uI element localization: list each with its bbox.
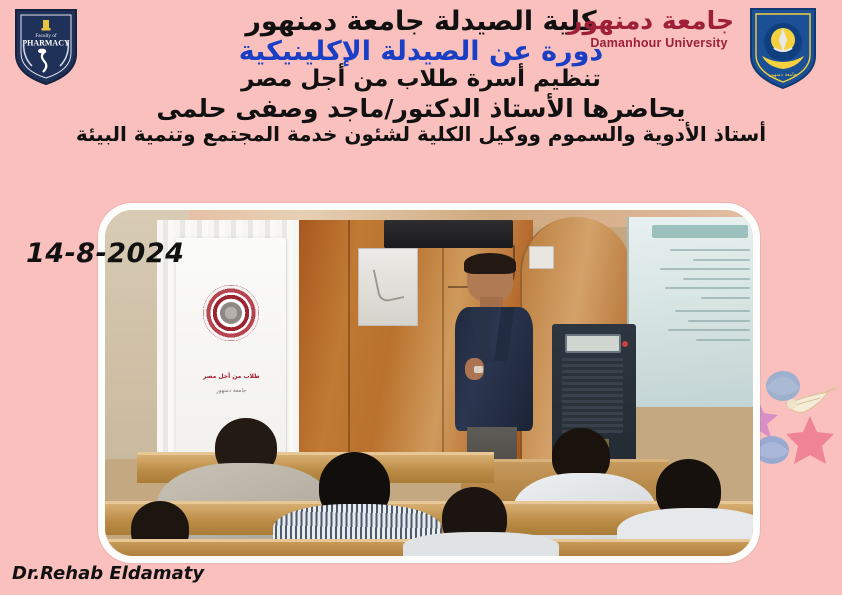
title-line-lecturer-role: أستاذ الأدوية والسموم ووكيل الكلية لشئون… [0,121,842,144]
seashell-decoration [748,358,840,478]
slide-text-line [701,297,750,299]
slide-text-line [693,259,750,261]
damanhour-university-crest-icon: جامعة دمنهور [746,4,820,90]
svg-text:جامعة دمنهور: جامعة دمنهور [768,72,797,78]
students-for-egypt-logo-icon [203,285,259,341]
poster-root: Faculty of PHARMACY كلية الصيدلة جامعة د… [0,0,842,595]
lecturer-wristwatch [474,366,483,373]
event-photo-frame: طلاب من أجل مصر جامعة دمنهور [98,203,760,563]
photo-air-conditioner [384,220,514,248]
photo-notice-mark [373,265,405,303]
slide-text-line [670,249,750,251]
slide-text-line [688,320,750,322]
cabinet-vent-grid [562,358,623,433]
photo-projection-screen [627,217,753,407]
slide-title-bar [652,225,748,238]
damanhour-english-label: Damanhour University [584,36,734,50]
starfish-pink-icon [786,416,834,464]
slide-text-line [683,278,750,280]
poster-header: Faculty of PHARMACY كلية الصيدلة جامعة د… [0,0,842,205]
shell-blue-top-icon [766,371,800,401]
photo-wall-notice [358,248,418,326]
title-line-lecturer: يحاضرها الأستاذ الدكتور/ماجد وصفى حلمى [0,92,842,122]
banner-line-2: جامعة دمنهور [176,388,286,394]
photo-audience-body [403,532,559,556]
cabinet-display-panel [565,334,621,354]
lecturer-hair [464,253,516,274]
photographer-credit: Dr.Rehab Eldamaty [12,563,204,584]
slide-text-line [665,287,751,289]
damanhour-arabic-label: جامعة دمنهور [584,8,734,34]
banner-line-1: طلاب من أجل مصر [176,373,286,380]
slide-text-line [675,310,750,312]
slide-text-line [668,329,751,331]
slide-text-line [696,339,750,341]
event-photo: طلاب من أجل مصر جامعة دمنهور [105,210,753,556]
shell-blue-bottom-icon [755,436,789,464]
event-date-stamp: 14-8-2024 [26,238,184,269]
slide-text-line [660,268,751,270]
damanhour-university-wordmark: جامعة دمنهور Damanhour University [584,8,734,78]
